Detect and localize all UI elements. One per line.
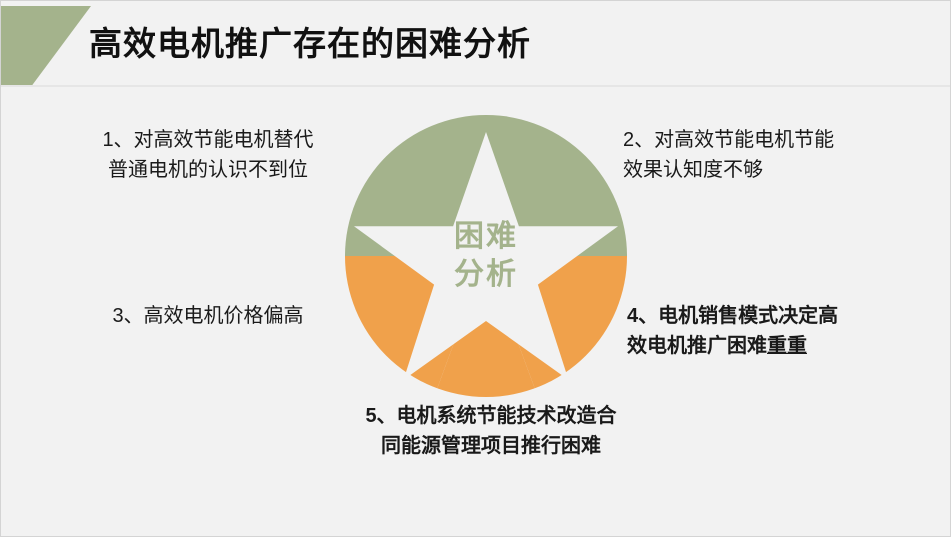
callout-item-3: 3、高效电机价格偏高 xyxy=(63,301,353,331)
diagram-segment-1 xyxy=(344,114,486,256)
callout-item-4: 4、电机销售模式决定高 效电机推广困难重重 xyxy=(627,301,927,362)
callout-item-5: 5、电机系统节能技术改造合 同能源管理项目推行困难 xyxy=(301,401,681,462)
slide-header: 高效电机推广存在的困难分析 xyxy=(1,1,951,87)
header-divider xyxy=(1,85,951,87)
page-title: 高效电机推广存在的困难分析 xyxy=(89,15,909,73)
star-circle-svg xyxy=(344,114,628,398)
callout-item-2: 2、对高效节能电机节能 效果认知度不够 xyxy=(623,125,923,186)
star-circle-diagram: 困难 分析 xyxy=(344,114,628,398)
presentation-slide: 高效电机推广存在的困难分析 xyxy=(0,0,951,537)
callout-item-4-underlined-text: 重重 xyxy=(767,335,807,357)
decorative-corner-wedge xyxy=(1,6,91,86)
diagram-segment-2 xyxy=(486,114,628,256)
callout-item-1: 1、对高效节能电机替代 普通电机的认识不到位 xyxy=(63,125,353,186)
